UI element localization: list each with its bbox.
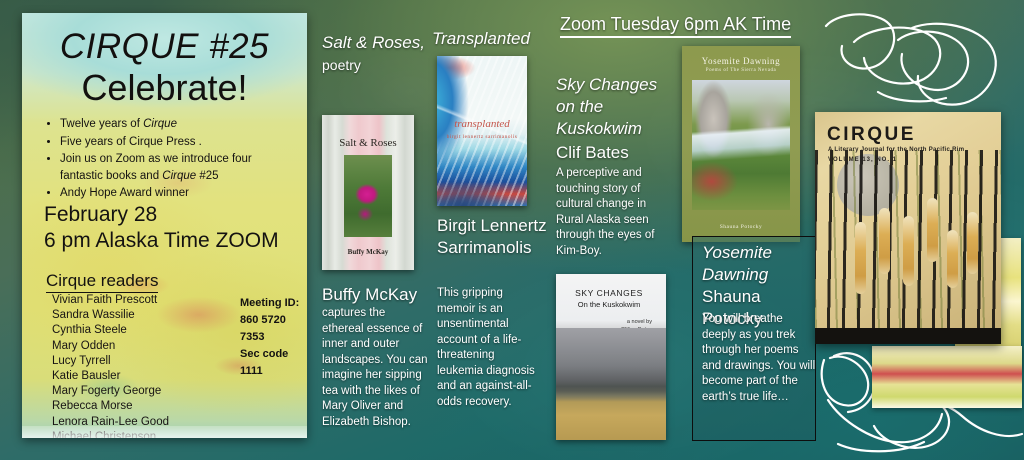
cover-ground (815, 328, 1001, 344)
journal-subtitle: A Literary Journal for the North Pacific… (828, 147, 964, 153)
cover-cattail (967, 212, 978, 274)
salt-and-roses-blurb: captures the ethereal essence of inner a… (322, 306, 428, 430)
readers-list: Vivian Faith Prescott Sandra Wassilie Cy… (52, 293, 169, 438)
cirque-journal-cover: CIRQUE A Literary Journal for the North … (815, 112, 1001, 344)
cover-rose-photo (344, 155, 392, 237)
cover-landscape-art (556, 328, 666, 440)
list-item: Andy Hope Award winner (60, 185, 297, 202)
cover-subtitle: Poems of The Sierra Nevada (682, 68, 800, 73)
cover-byline-label: a novel by (621, 318, 652, 326)
poster-title-line2: Celebrate! (22, 67, 307, 109)
book-title: Yosemite Dawning (702, 242, 814, 286)
zoom-meeting-details: Meeting ID: 860 5720 7353 Sec code 1111 (240, 295, 307, 380)
sec-code-value: 1111 (240, 363, 307, 380)
cover-author: Shauna Potocky (682, 224, 800, 230)
poster-time: 6 pm Alaska Time ZOOM (44, 229, 279, 253)
decorative-scribble-top-right (820, 4, 1020, 116)
salt-and-roses-cover: Salt & Roses Buffy McKay (322, 115, 414, 270)
book-title: Salt & Roses, (322, 33, 425, 52)
cover-title: transplanted (437, 118, 527, 130)
sky-changes-blurb: A perceptive and touching story of cultu… (556, 166, 668, 259)
cover-cattail (855, 222, 866, 294)
sky-changes-author: Clif Bates (556, 142, 629, 164)
list-item: Vivian Faith Prescott (52, 293, 169, 308)
poster-date: February 28 (44, 203, 157, 227)
yosemite-dawning-cover: Yosemite Dawning Poems of The Sierra Nev… (682, 46, 800, 242)
transplanted-author: Birgit Lennertz Sarrimanolis (437, 215, 549, 259)
transplanted-blurb: This gripping memoir is an unsentimental… (437, 286, 539, 410)
transplanted-heading: Transplanted (432, 28, 552, 50)
sky-changes-cover: SKY CHANGES On the Kuskokwim a novel by … (556, 274, 666, 440)
list-item: Twelve years of Cirque (60, 116, 297, 133)
cover-title: SKY CHANGES (556, 288, 662, 298)
list-item: Mary Fogerty George (52, 384, 169, 399)
cover-valley-art (692, 80, 790, 210)
list-item: Lucy Tyrrell (52, 354, 169, 369)
readers-heading: Cirque readers (46, 271, 158, 293)
journal-title: CIRQUE (827, 124, 916, 146)
sky-changes-heading: Sky Changes on the Kuskokwim (556, 74, 672, 140)
list-item: Join us on Zoom as we introduce four fan… (60, 151, 297, 184)
list-item: Cynthia Steele (52, 323, 169, 338)
flyer-canvas: CIRQUE #25 Celebrate! Twelve years of Ci… (0, 0, 1024, 460)
cover-cattail (927, 198, 938, 262)
cover-wave-art (437, 56, 527, 206)
list-item: Five years of Cirque Press . (60, 134, 297, 151)
cirque-25-poster: CIRQUE #25 Celebrate! Twelve years of Ci… (22, 13, 307, 438)
meeting-id-value-line1: 860 5720 (240, 312, 307, 329)
cover-cattail (947, 230, 958, 288)
list-item: Sandra Wassilie (52, 308, 169, 323)
poster-title-line1: CIRQUE #25 (22, 27, 307, 67)
book-genre: poetry (322, 57, 361, 73)
list-item: Katie Bausler (52, 369, 169, 384)
list-item: Mary Odden (52, 339, 169, 354)
cover-subtitle: On the Kuskokwim (556, 300, 662, 309)
cover-cattail (879, 208, 890, 274)
cover-title: Yosemite Dawning (682, 56, 800, 66)
poster-bullet-list: Twelve years of Cirque Five years of Cir… (38, 116, 297, 203)
poster-bottom-edge (22, 426, 307, 438)
cover-cattail (903, 216, 914, 286)
cover-title: Salt & Roses (322, 137, 414, 149)
salt-and-roses-heading: Salt & Roses, poetry (322, 32, 427, 76)
meeting-id-value-line2: 7353 (240, 329, 307, 346)
background-artwork-bottom-right (872, 346, 1022, 408)
sec-code-label: Sec code (240, 346, 307, 363)
zoom-banner-heading: Zoom Tuesday 6pm AK Time (560, 14, 791, 38)
transplanted-cover: transplanted birgit lennertz sarrimanoli… (437, 56, 527, 206)
meeting-id-label: Meeting ID: (240, 295, 307, 312)
list-item: Rebecca Morse (52, 399, 169, 414)
journal-volume: VOLUME 13, NO. 1 (828, 157, 897, 163)
yosemite-dawning-blurb: You will breathe deeply as you trek thro… (702, 312, 816, 405)
cover-author: birgit lennertz sarrimanolis (437, 134, 527, 140)
cover-author: Buffy McKay (322, 248, 414, 256)
salt-and-roses-author: Buffy McKay (322, 284, 434, 306)
